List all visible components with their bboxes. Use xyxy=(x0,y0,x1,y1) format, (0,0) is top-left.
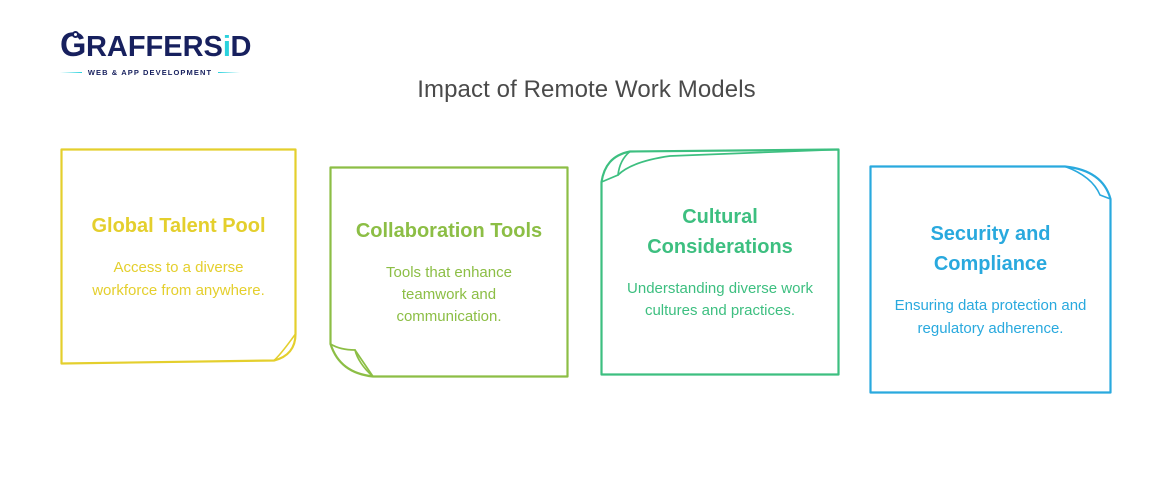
card-title: Collaboration Tools xyxy=(356,216,542,246)
cards-container: Global Talent Pool Access to a diverse w… xyxy=(0,0,1173,483)
card-collaboration-tools[interactable]: Collaboration Tools Tools that enhance t… xyxy=(329,166,569,378)
card-description: Access to a diverse workforce from anywh… xyxy=(84,257,273,301)
card-outline-fold-top-left xyxy=(600,148,840,376)
card-global-talent-pool[interactable]: Global Talent Pool Access to a diverse w… xyxy=(60,148,297,365)
card-security-and-compliance[interactable]: Security and Compliance Ensuring data pr… xyxy=(869,165,1112,394)
card-description: Tools that enhance teamwork and communic… xyxy=(353,262,545,329)
card-description: Ensuring data protection and regulatory … xyxy=(893,295,1088,339)
card-title: Security and Compliance xyxy=(893,219,1088,279)
card-title: Cultural Considerations xyxy=(624,202,816,262)
card-outline-fold-top-right xyxy=(869,165,1112,394)
card-cultural-considerations[interactable]: Cultural Considerations Understanding di… xyxy=(600,148,840,376)
card-description: Understanding diverse work cultures and … xyxy=(624,278,816,322)
card-title: Global Talent Pool xyxy=(91,211,265,241)
